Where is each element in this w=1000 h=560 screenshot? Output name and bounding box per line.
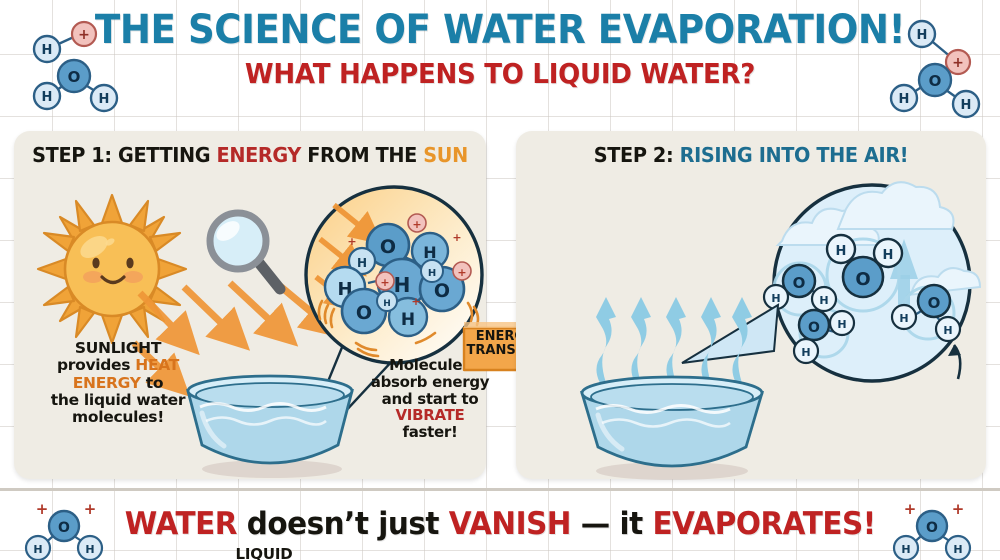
svg-text:+: + [36,500,49,518]
banner-headline: WATER doesn’t just VANISH — it EVAPORATE… [125,506,876,542]
svg-text:H: H [428,268,436,279]
svg-text:H: H [953,543,962,556]
svg-text:+: + [952,500,965,518]
step-1-heading-part2: FROM THE [301,143,423,167]
svg-text:H: H [33,543,42,556]
step-1-heading-sun: SUN [423,143,468,167]
svg-text:+: + [84,500,97,518]
svg-text:H: H [836,244,847,259]
svg-text:H: H [819,294,828,307]
sunlight-line-4: the liquid water [38,392,198,409]
svg-text:O: O [926,520,938,536]
step-2-heading-part1: STEP 2: [594,143,680,167]
banner-word-vanish: VANISH [449,506,571,542]
svg-text:H: H [401,310,415,330]
svg-text:H: H [383,299,391,309]
svg-text:H: H [99,92,110,107]
vibrate-line-4: VIBRATE faster! [366,407,494,441]
molecule-decor-bottom-right: O H H + + [886,502,982,558]
vibrate-line-3: and start to [366,391,494,408]
sunlight-line-2: provides HEAT [38,357,198,374]
step-2-panel: STEP 2: RISING INTO THE AIR! [516,131,986,479]
sunlight-line-3: ENERGY to [38,375,198,392]
banner-word-doesnt: doesn’t just [237,506,449,542]
banner-divider [0,488,1000,491]
liquid-water-bowl [180,369,360,479]
vapor-zoom-bubble: O H H O H H O H H O H H [768,183,986,403]
sunlight-line-1: SUNLIGHT [38,340,198,357]
svg-text:H: H [423,243,436,262]
heat-word: HEAT [135,356,179,374]
header: THE SCIENCE OF WATER EVAPORATION! WHAT H… [0,10,1000,90]
bottom-banner: O H H + + WATER doesn’t just VANISH — it… [0,488,1000,560]
water-vapor-bowl [572,369,772,481]
svg-text:O: O [928,294,941,312]
energy-word: ENERGY [73,374,141,392]
svg-text:H: H [883,248,894,263]
sunlight-line-5: molecules! [38,409,198,426]
svg-text:+: + [904,500,917,518]
step-1-heading-energy: ENERGY [217,143,301,167]
page-title: THE SCIENCE OF WATER EVAPORATION! [35,10,965,51]
svg-text:+: + [380,276,389,289]
svg-text:H: H [961,98,972,113]
svg-text:H: H [394,273,411,297]
banner-word-evaporates: EVAPORATES! [652,506,875,542]
step-1-heading-part1: STEP 1: GETTING [32,143,216,167]
sunlight-paragraph: SUNLIGHT provides HEAT ENERGY to the liq… [38,340,198,427]
svg-text:H: H [837,318,846,331]
banner-word-water: WATER [125,506,237,542]
magnifier-icon [200,203,292,301]
step-2-heading: STEP 2: RISING INTO THE AIR! [530,143,972,167]
svg-text:H: H [42,90,53,105]
svg-text:+: + [347,235,356,248]
svg-text:H: H [85,543,94,556]
svg-text:+: + [457,266,466,279]
step-2-heading-accent: RISING INTO THE AIR! [680,143,909,167]
banner-word-it: — it [571,506,653,542]
svg-text:H: H [357,256,367,270]
svg-text:+: + [411,295,420,308]
svg-text:O: O [356,302,372,324]
molecule-decor-bottom-left: O H H + + [18,502,114,558]
svg-text:H: H [801,346,810,359]
svg-text:O: O [808,320,820,336]
svg-text:+: + [452,231,461,244]
svg-text:O: O [855,269,870,290]
svg-text:+: + [412,218,421,231]
svg-text:H: H [943,324,952,337]
page-subtitle: WHAT HAPPENS TO LIQUID WATER? [35,57,965,90]
infographic-stage: H + O H H H + O H H THE SCIENCE OF WATER… [0,0,1000,560]
svg-text:H: H [899,92,910,107]
svg-text:H: H [899,312,908,325]
step-1-panel: STEP 1: GETTING ENERGY FROM THE SUN [14,131,486,479]
svg-text:O: O [434,280,450,302]
svg-text:H: H [901,543,910,556]
svg-text:O: O [58,520,70,536]
step-1-heading: STEP 1: GETTING ENERGY FROM THE SUN [28,143,472,167]
vibrate-word: VIBRATE [396,406,465,424]
svg-text:O: O [793,274,806,292]
svg-text:O: O [380,236,396,258]
